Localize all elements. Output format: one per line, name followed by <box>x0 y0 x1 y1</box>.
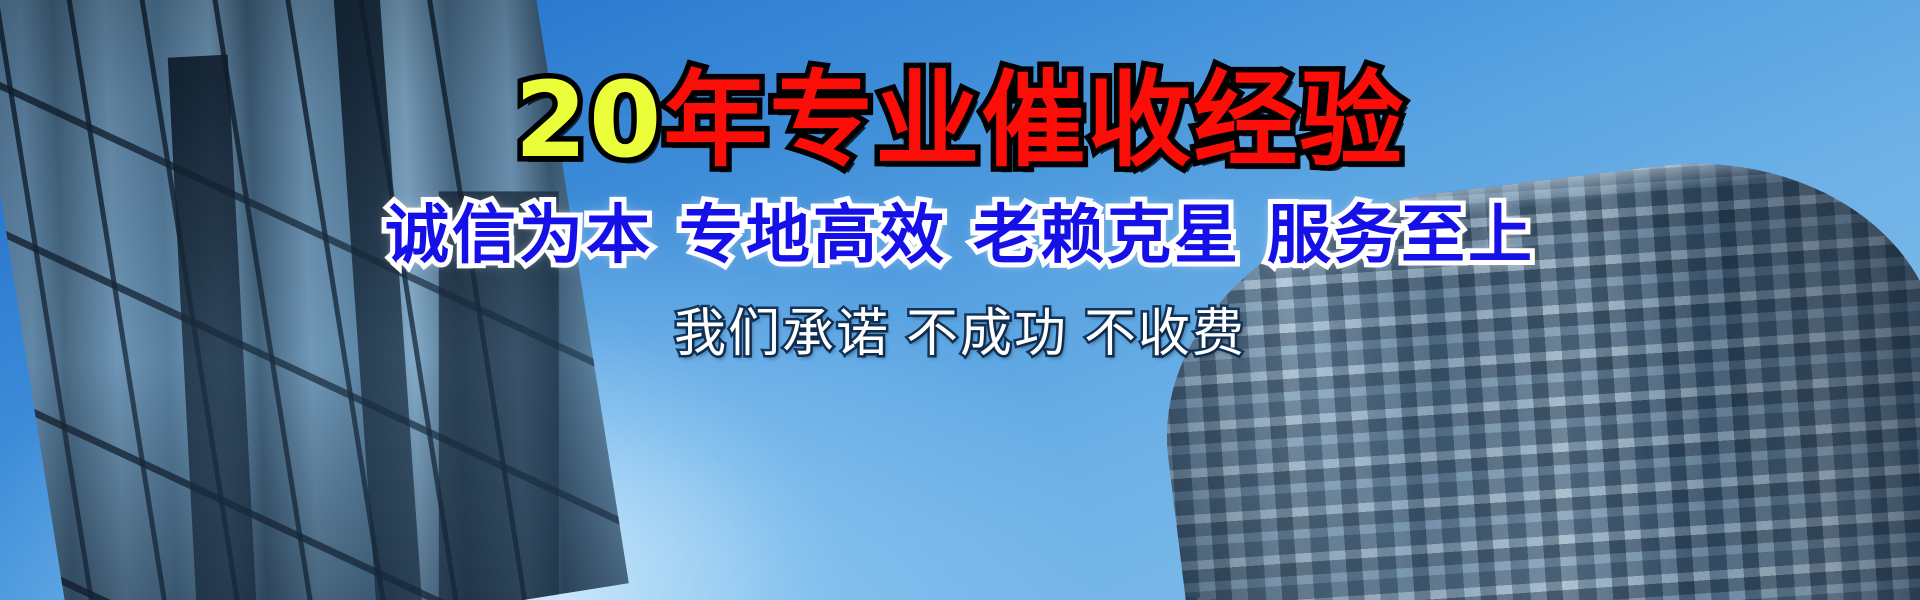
banner-headline: 20年专业催收经验 <box>515 68 1406 172</box>
banner-subhead: 诚信为本专地高效老赖克星服务至上 <box>385 204 1535 268</box>
tagline-segment-3: 不收费 <box>1084 304 1246 364</box>
tagline-segment-2: 不成功 <box>906 304 1068 364</box>
headline-years-number: 20 <box>515 59 664 181</box>
tagline-segment-1: 我们承诺 <box>674 304 890 364</box>
subhead-segment-2: 专地高效 <box>679 199 947 273</box>
headline-main-text: 年专业催收经验 <box>663 59 1405 181</box>
subhead-segment-4: 服务至上 <box>1267 199 1535 273</box>
subhead-segment-3: 老赖克星 <box>973 199 1241 273</box>
banner-tagline: 我们承诺不成功不收费 <box>674 308 1246 360</box>
promo-banner: 20年专业催收经验 诚信为本专地高效老赖克星服务至上 我们承诺不成功不收费 <box>0 0 1920 600</box>
banner-text-layer: 20年专业催收经验 诚信为本专地高效老赖克星服务至上 我们承诺不成功不收费 <box>0 0 1920 600</box>
subhead-segment-1: 诚信为本 <box>385 199 653 273</box>
